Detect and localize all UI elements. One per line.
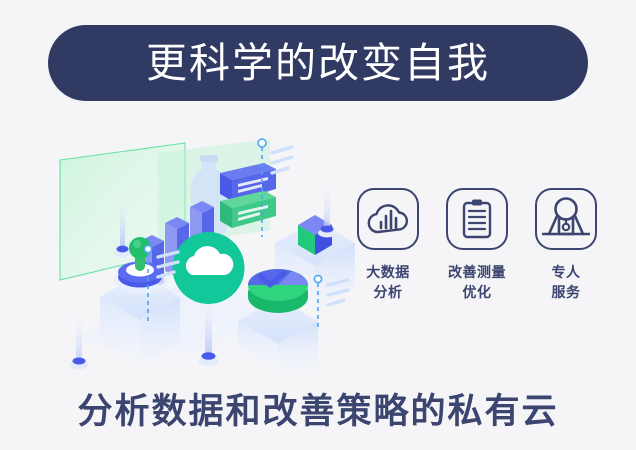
poster-canvas: 更科学的改变自我 bbox=[0, 0, 636, 450]
page-title: 更科学的改变自我 bbox=[146, 43, 490, 84]
feature-item-service[interactable]: 专人 服务 bbox=[530, 188, 602, 304]
cloud-bar-chart-icon bbox=[357, 188, 419, 250]
feature-label-line2: 服务 bbox=[552, 283, 581, 303]
feature-label-line1: 改善测量 bbox=[448, 263, 506, 283]
header-banner: 更科学的改变自我 bbox=[48, 25, 588, 101]
feature-label-measurement: 改善测量 优化 bbox=[448, 263, 506, 304]
feature-label-line1: 专人 bbox=[552, 263, 581, 283]
pie-chart-3d bbox=[248, 269, 308, 313]
person-service-icon bbox=[535, 188, 597, 250]
feature-label-line1: 大数据 bbox=[366, 263, 410, 283]
feature-label-line2: 分析 bbox=[366, 283, 410, 303]
feature-list: 大数据 分析 改善测量 优化 bbox=[352, 188, 602, 338]
illustration bbox=[40, 125, 360, 370]
clipboard-icon bbox=[446, 188, 508, 250]
feature-label-service: 专人 服务 bbox=[552, 263, 581, 304]
feature-label-big-data: 大数据 分析 bbox=[366, 263, 410, 304]
feature-label-line2: 优化 bbox=[448, 283, 506, 303]
footer-headline: 分析数据和改善策略的私有云 bbox=[0, 383, 636, 434]
feature-item-measurement[interactable]: 改善测量 优化 bbox=[441, 188, 513, 304]
feature-item-big-data[interactable]: 大数据 分析 bbox=[352, 188, 424, 304]
